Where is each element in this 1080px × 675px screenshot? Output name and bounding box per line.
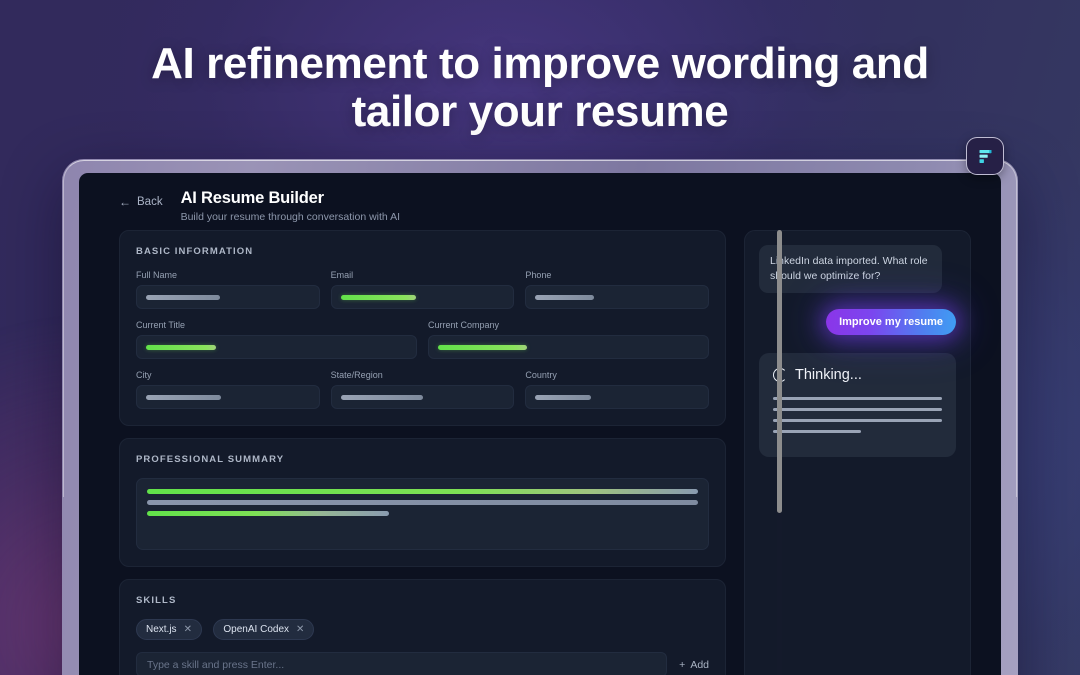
value-bar [535, 395, 591, 400]
value-bar [535, 295, 594, 300]
skill-tag-label: OpenAI Codex [223, 624, 289, 635]
field-label: Current Title [136, 320, 417, 330]
thinking-placeholder-line [773, 419, 942, 422]
headline-line-2: tailor your resume [0, 88, 1080, 136]
plus-icon: + [679, 659, 685, 671]
field-country: Country [525, 370, 709, 409]
thinking-header: Thinking... [773, 367, 942, 383]
brand-logo-badge [966, 137, 1004, 175]
form-row-3: City State/Region Country [136, 370, 709, 409]
value-bar [146, 295, 220, 300]
field-full-name: Full Name [136, 270, 320, 309]
field-current-title: Current Title [136, 320, 417, 359]
laptop-frame: ← Back AI Resume Builder Build your resu… [62, 159, 1018, 675]
value-bar [146, 395, 221, 400]
email-input[interactable] [331, 285, 515, 309]
value-bar [341, 295, 416, 300]
current-company-input[interactable] [428, 335, 709, 359]
app-header: ← Back AI Resume Builder Build your resu… [79, 173, 1001, 225]
add-skill-button[interactable]: + Add [679, 659, 709, 671]
field-current-company: Current Company [428, 320, 709, 359]
skill-tag-list: Next.js ✕ OpenAI Codex ✕ [136, 619, 709, 640]
headline-line-1: AI refinement to improve wording and [0, 40, 1080, 88]
field-phone: Phone [525, 270, 709, 309]
professional-summary-card: PROFESSIONAL SUMMARY [119, 438, 726, 567]
thinking-placeholder-line [773, 430, 861, 433]
page-title: AI Resume Builder [181, 189, 400, 208]
app-body: BASIC INFORMATION Full Name Email Phone [79, 225, 1001, 675]
professional-summary-textarea[interactable] [136, 478, 709, 550]
professional-summary-title: PROFESSIONAL SUMMARY [136, 454, 709, 465]
close-icon[interactable]: ✕ [296, 624, 304, 635]
city-input[interactable] [136, 385, 320, 409]
basic-information-title: BASIC INFORMATION [136, 246, 709, 257]
skill-tag-label: Next.js [146, 624, 177, 635]
close-icon[interactable]: ✕ [184, 624, 192, 635]
f-logo-icon [976, 147, 995, 166]
current-title-input[interactable] [136, 335, 417, 359]
thinking-placeholder-line [773, 397, 942, 400]
skills-card: SKILLS Next.js ✕ OpenAI Codex ✕ Type a s… [119, 579, 726, 675]
chat-column: LinkedIn data imported. What role should… [726, 225, 1001, 675]
back-button-label: Back [137, 196, 163, 208]
skills-title: SKILLS [136, 595, 709, 606]
field-label: Country [525, 370, 709, 380]
country-input[interactable] [525, 385, 709, 409]
page-subtitle: Build your resume through conversation w… [181, 211, 400, 223]
basic-information-card: BASIC INFORMATION Full Name Email Phone [119, 230, 726, 426]
value-bar [341, 395, 423, 400]
back-button[interactable]: ← Back [119, 196, 163, 208]
assistant-message: LinkedIn data imported. What role should… [759, 245, 942, 293]
field-state-region: State/Region [331, 370, 515, 409]
resume-form-column: BASIC INFORMATION Full Name Email Phone [79, 225, 726, 675]
form-row-1: Full Name Email Phone [136, 270, 709, 309]
field-label: Phone [525, 270, 709, 280]
skill-input-row: Type a skill and press Enter... + Add [136, 652, 709, 675]
field-label: Current Company [428, 320, 709, 330]
state-region-input[interactable] [331, 385, 515, 409]
add-skill-label: Add [690, 659, 709, 671]
field-label: City [136, 370, 320, 380]
field-city: City [136, 370, 320, 409]
skill-tag[interactable]: Next.js ✕ [136, 619, 202, 640]
form-scrollbar[interactable] [777, 230, 782, 675]
form-row-2: Current Title Current Company [136, 320, 709, 359]
value-bar [146, 345, 216, 350]
field-email: Email [331, 270, 515, 309]
field-label: Email [331, 270, 515, 280]
laptop-screen: ← Back AI Resume Builder Build your resu… [79, 173, 1001, 675]
phone-input[interactable] [525, 285, 709, 309]
summary-line [147, 489, 698, 494]
summary-line [147, 500, 698, 505]
thinking-card: Thinking... [759, 353, 956, 457]
form-scrollbar-thumb[interactable] [777, 230, 782, 513]
full-name-input[interactable] [136, 285, 320, 309]
summary-line [147, 511, 389, 516]
thinking-label: Thinking... [795, 367, 862, 383]
skill-input[interactable]: Type a skill and press Enter... [136, 652, 667, 675]
headline: AI refinement to improve wording and tai… [0, 40, 1080, 136]
thinking-placeholder-line [773, 408, 942, 411]
field-label: Full Name [136, 270, 320, 280]
improve-my-resume-button[interactable]: Improve my resume [826, 309, 956, 335]
arrow-left-icon: ← [119, 196, 131, 208]
skill-tag[interactable]: OpenAI Codex ✕ [213, 619, 314, 640]
value-bar [438, 345, 527, 350]
user-message-row: Improve my resume [759, 309, 956, 335]
field-label: State/Region [331, 370, 515, 380]
